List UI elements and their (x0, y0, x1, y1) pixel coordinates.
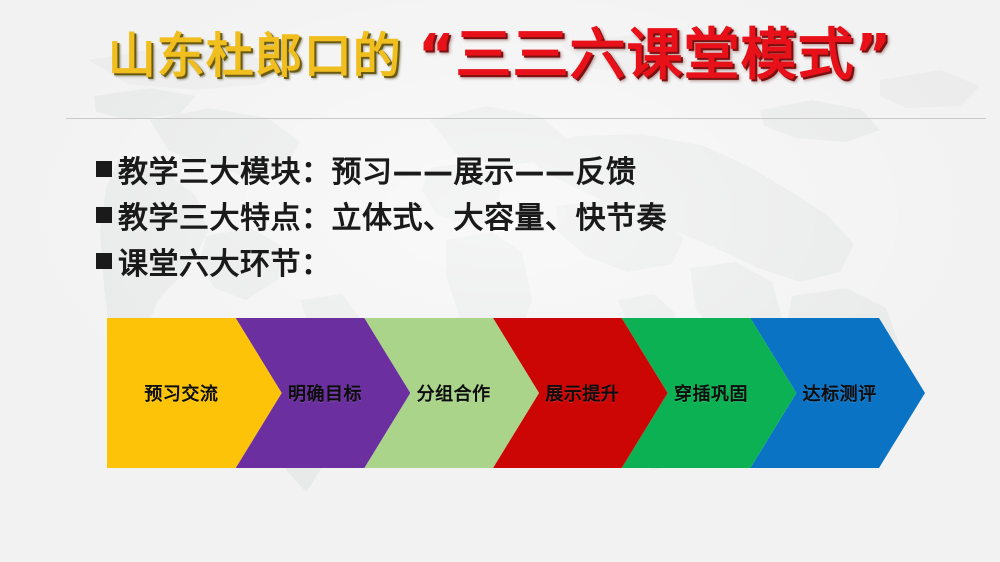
bullet-list: 教学三大模块：预习——展示——反馈 教学三大特点：立体式、大容量、快节奏 课堂六… (96, 148, 916, 286)
process-step-label: 展示提升 (545, 380, 619, 406)
title-red-part: “三三六课堂模式” (418, 28, 893, 84)
square-bullet-icon (96, 253, 112, 269)
process-step-label: 穿插巩固 (674, 380, 748, 406)
process-step-label: 分组合作 (417, 380, 491, 406)
list-item: 教学三大模块：预习——展示——反馈 (96, 148, 916, 190)
bullet-text: 课堂六大环节： (118, 239, 332, 283)
list-item: 教学三大特点：立体式、大容量、快节奏 (96, 194, 916, 236)
square-bullet-icon (96, 207, 112, 223)
process-step-label: 达标测评 (803, 380, 877, 406)
bullet-text: 教学三大特点：立体式、大容量、快节奏 (118, 193, 667, 237)
bullet-text: 教学三大模块：预习——展示——反馈 (118, 147, 637, 191)
title-divider (66, 118, 986, 119)
title-gold-part: 山东杜郎口的 (108, 32, 402, 80)
square-bullet-icon (96, 161, 112, 177)
process-step-label: 预习交流 (144, 380, 218, 406)
process-chevron-row: 预习交流 明确目标 分组合作 展示提升 穿插巩固 达标测评 (107, 318, 925, 468)
list-item: 课堂六大环节： (96, 240, 916, 282)
slide-canvas: 山东杜郎口的“三三六课堂模式” 教学三大模块：预习——展示——反馈 教学三大特点… (0, 0, 1000, 562)
page-title: 山东杜郎口的“三三六课堂模式” (0, 28, 1000, 84)
process-step-label: 明确目标 (288, 380, 362, 406)
